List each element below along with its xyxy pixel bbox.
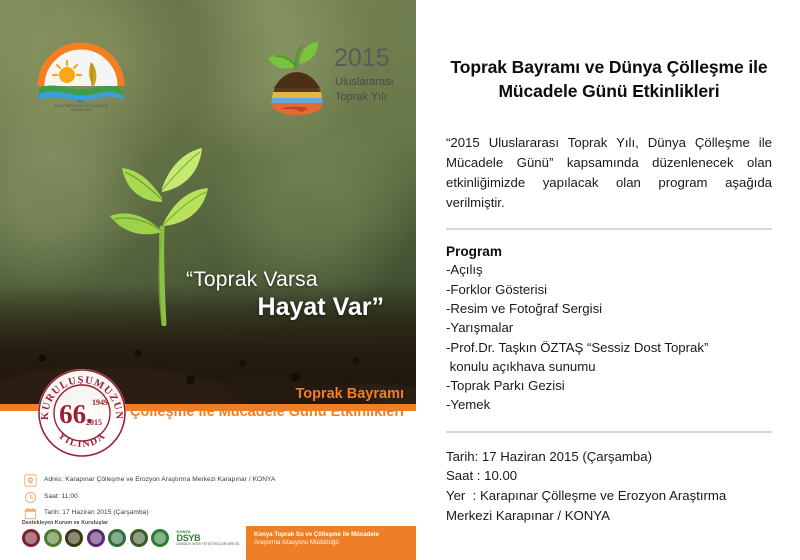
page-title: Toprak Bayramı ve Dünya Çölleşme ile Müc… bbox=[446, 56, 772, 103]
divider-above-program bbox=[446, 228, 772, 230]
seal-year-from: 1949 bbox=[92, 398, 108, 407]
sponsor-logo-4 bbox=[87, 529, 105, 547]
meta-date: Tarih: 17 Haziran 2015 (Çarşamba) bbox=[446, 447, 772, 467]
detail-row-time: Saat: 11:00 bbox=[24, 491, 354, 504]
detail-date-text: Tarih: 17 Haziran 2015 (Çarşamba) bbox=[44, 507, 149, 518]
list-item: -Açılış bbox=[446, 260, 772, 279]
year-logo-line1: Uluslararası bbox=[335, 76, 394, 88]
slogan-line-1: “Toprak Varsa bbox=[186, 268, 318, 291]
poster-footer-bar: Konya Toprak Su ve Çölleşme ile Mücadele… bbox=[246, 526, 416, 560]
location-pin-icon bbox=[24, 474, 37, 487]
list-item: -Forklor Gösterisi bbox=[446, 280, 772, 299]
meta-place-line-2: Merkezi Karapınar / KONYA bbox=[446, 506, 772, 526]
sponsor-text-logo-dsyb: KONYA DSYB DAMIZLIK SIĞIR YETİŞTİRİCİLER… bbox=[177, 530, 240, 546]
sponsor-logo-2 bbox=[44, 529, 62, 547]
seal-year-to: 2015 bbox=[86, 418, 102, 427]
ministry-logo: T.C. GIDA TARIM VE HAYVANCILIK BAKANLIĞI bbox=[33, 42, 129, 112]
clock-icon bbox=[24, 491, 37, 504]
list-item: -Prof.Dr. Taşkın ÖZTAŞ “Sessiz Dost Topr… bbox=[446, 338, 772, 357]
sponsors-section: Destekleyen Kurum ve Kuruluşlar KONYA DS… bbox=[22, 520, 252, 547]
list-item: -Yarışmalar bbox=[446, 318, 772, 337]
list-item: konulu açıkhava sunumu bbox=[446, 357, 772, 376]
event-poster: T.C. GIDA TARIM VE HAYVANCILIK BAKANLIĞI bbox=[0, 0, 416, 560]
seedling-emblem-icon bbox=[268, 42, 323, 115]
sponsor-logo-3 bbox=[65, 529, 83, 547]
international-year-of-soils-logo: 2015 Uluslararası Toprak Yılı bbox=[258, 38, 408, 116]
year-logo-year: 2015 bbox=[334, 44, 390, 72]
program-list: -Açılış -Forklor Gösterisi -Resim ve Fot… bbox=[446, 260, 772, 414]
sponsors-heading: Destekleyen Kurum ve Kuruluşlar bbox=[22, 520, 252, 526]
detail-address-text: Adres: Karapınar Çölleşme ve Erozyon Ara… bbox=[44, 474, 275, 485]
poster-slogan: “Toprak Varsa Hayat Var” bbox=[186, 268, 398, 321]
poster-document-page: T.C. GIDA TARIM VE HAYVANCILIK BAKANLIĞI bbox=[0, 0, 800, 560]
list-item: -Resim ve Fotoğraf Sergisi bbox=[446, 299, 772, 318]
meta-time: Saat : 10.00 bbox=[446, 466, 772, 486]
footer-line-2: Araştırma İstasyonu Müdürlüğü bbox=[254, 539, 409, 547]
intro-paragraph: “2015 Uluslararası Toprak Yılı, Dünya Çö… bbox=[446, 133, 772, 212]
list-item: -Toprak Parkı Gezisi bbox=[446, 376, 772, 395]
event-meta-block: Tarih: 17 Haziran 2015 (Çarşamba) Saat :… bbox=[446, 447, 772, 526]
dsyb-small-bottom: DAMIZLIK SIĞIR YETİŞTİRİCİLERİ BİRLİĞİ bbox=[177, 543, 240, 546]
slogan-line-2: Hayat Var” bbox=[186, 293, 398, 321]
seedling-photo-background: T.C. GIDA TARIM VE HAYVANCILIK BAKANLIĞI bbox=[0, 0, 416, 404]
sponsor-logo-7 bbox=[151, 529, 169, 547]
detail-row-address: Adres: Karapınar Çölleşme ve Erozyon Ara… bbox=[24, 474, 354, 487]
anniversary-seal: KURULUŞUMUZUN YILINDA 66. 1949 2015 bbox=[36, 367, 128, 459]
detail-row-date: Tarih: 17 Haziran 2015 (Çarşamba) bbox=[24, 507, 354, 520]
program-heading: Program bbox=[446, 244, 772, 259]
footer-line-1: Konya Toprak Su ve Çölleşme ile Mücadele bbox=[254, 531, 409, 539]
sponsor-logo-row: KONYA DSYB DAMIZLIK SIĞIR YETİŞTİRİCİLER… bbox=[22, 529, 252, 547]
document-panel: Toprak Bayramı ve Dünya Çölleşme ile Müc… bbox=[416, 0, 800, 560]
calendar-icon bbox=[24, 507, 37, 520]
list-item: -Yemek bbox=[446, 395, 772, 414]
detail-time-text: Saat: 11:00 bbox=[44, 491, 78, 502]
meta-place-line-1: Yer : Karapınar Çölleşme ve Erozyon Araş… bbox=[446, 486, 772, 506]
poster-details-list: Adres: Karapınar Çölleşme ve Erozyon Ara… bbox=[24, 474, 354, 524]
sponsor-logo-1 bbox=[22, 529, 40, 547]
divider-above-meta bbox=[446, 431, 772, 433]
sponsor-logo-5 bbox=[108, 529, 126, 547]
ministry-logo-line3: BAKANLIĞI bbox=[71, 107, 92, 112]
year-logo-line2: Toprak Yılı bbox=[335, 91, 387, 103]
sponsor-logo-6 bbox=[130, 529, 148, 547]
